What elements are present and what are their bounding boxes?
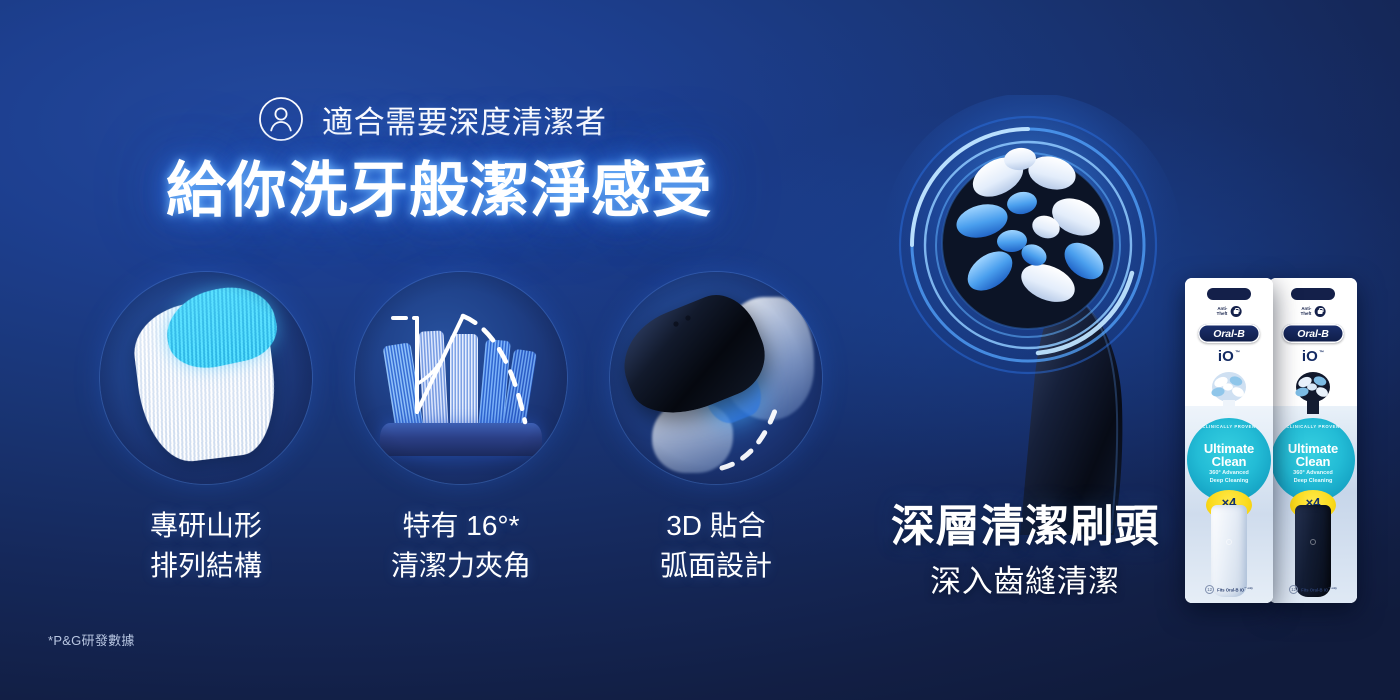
hero-subtitle: 深入齒縫清潔 xyxy=(860,556,1190,601)
feature-list: 專研山形 排列結構 xyxy=(0,272,860,602)
product-package-group: Anti- Theft Oral-B iO™ xyxy=(1185,278,1375,608)
feature-label-line1: 專研山形 xyxy=(100,506,312,546)
compatibility-text: Fits Oral-B iO™ only xyxy=(1301,587,1337,592)
page-title: 給你洗牙般潔淨感受 xyxy=(166,159,712,224)
eyebrow: 適合需要深度清潔者 xyxy=(258,96,607,142)
brand-logo: Oral-B xyxy=(1282,324,1344,343)
clinically-proven-text: CLINICALLY PROVEN xyxy=(1187,424,1271,429)
person-icon xyxy=(258,96,304,142)
right-content-block: 深層清潔刷頭 深入齒縫清潔 Anti- Theft Oral-B xyxy=(860,0,1400,700)
product-package[interactable]: Anti- Theft Oral-B iO™ xyxy=(1269,278,1357,603)
handle-dot-icon xyxy=(1310,539,1316,545)
handle-image xyxy=(1211,505,1247,597)
hero-title: 深層清潔刷頭 xyxy=(860,490,1190,554)
clinically-proven-text: CLINICALLY PROVEN xyxy=(1271,424,1355,429)
brand-name: Oral-B xyxy=(1297,328,1328,340)
package-footer: 12 Fits Oral-B iO™ only xyxy=(1269,585,1357,594)
brush-head-icon xyxy=(1286,370,1340,416)
anti-theft-line2: Theft xyxy=(1301,312,1312,317)
product-line-name: iO™ xyxy=(1218,348,1240,365)
feature-item: 3D 貼合 弧面設計 xyxy=(610,272,822,586)
lock-icon xyxy=(1314,306,1325,317)
feature-label-line2: 排列結構 xyxy=(100,546,312,586)
angle-indicator-icon xyxy=(355,272,567,484)
brush-head-curve-image xyxy=(610,272,822,484)
brand-logo: Oral-B xyxy=(1198,324,1260,343)
curve-indicator-icon xyxy=(610,272,822,484)
feature-label: 特有 16°* 清潔力夾角 xyxy=(355,506,567,586)
lock-icon xyxy=(1230,306,1241,317)
bristle-angle-image xyxy=(355,272,567,484)
bristle-profile-image xyxy=(100,272,312,484)
product-name: Ultimate Clean xyxy=(1187,442,1271,468)
product-package[interactable]: Anti- Theft Oral-B iO™ xyxy=(1185,278,1273,603)
feature-label-line2: 弧面設計 xyxy=(610,546,822,586)
brush-head-icon xyxy=(1202,370,1256,416)
hang-hole-icon xyxy=(1207,288,1251,300)
age-badge: 12 xyxy=(1289,585,1298,594)
brush-head-hero-image xyxy=(870,95,1200,535)
product-name: Ultimate Clean xyxy=(1271,442,1355,468)
product-description: 360° Advanced Deep Cleaning xyxy=(1187,470,1271,485)
hang-hole-icon xyxy=(1291,288,1335,300)
handle-dot-icon xyxy=(1226,539,1232,545)
product-description: 360° Advanced Deep Cleaning xyxy=(1271,470,1355,485)
anti-theft-badge: Anti- Theft xyxy=(1217,306,1242,317)
eyebrow-text: 適合需要深度清潔者 xyxy=(322,97,607,142)
feature-label-line2: 清潔力夾角 xyxy=(355,546,567,586)
product-line-name: iO™ xyxy=(1302,348,1324,365)
compatibility-text: Fits Oral-B iO™ only xyxy=(1217,587,1253,592)
anti-theft-line2: Theft xyxy=(1217,312,1228,317)
footnote: *P&G研發數據 xyxy=(48,630,135,649)
brand-name: Oral-B xyxy=(1213,328,1244,340)
feature-label-line1: 3D 貼合 xyxy=(610,506,822,546)
feature-label: 3D 貼合 弧面設計 xyxy=(610,506,822,586)
feature-item: 專研山形 排列結構 xyxy=(100,272,312,586)
anti-theft-badge: Anti- Theft xyxy=(1301,306,1326,317)
handle-image xyxy=(1295,505,1331,597)
feature-label-line1: 特有 16°* xyxy=(355,506,567,546)
package-footer: 12 Fits Oral-B iO™ only xyxy=(1185,585,1273,594)
age-badge: 12 xyxy=(1205,585,1214,594)
promo-banner: 適合需要深度清潔者 給你洗牙般潔淨感受 專研山形 排列結構 xyxy=(0,0,1400,700)
feature-label: 專研山形 排列結構 xyxy=(100,506,312,586)
feature-item: 特有 16°* 清潔力夾角 xyxy=(355,272,567,586)
left-content-block: 適合需要深度清潔者 給你洗牙般潔淨感受 專研山形 排列結構 xyxy=(0,0,860,700)
